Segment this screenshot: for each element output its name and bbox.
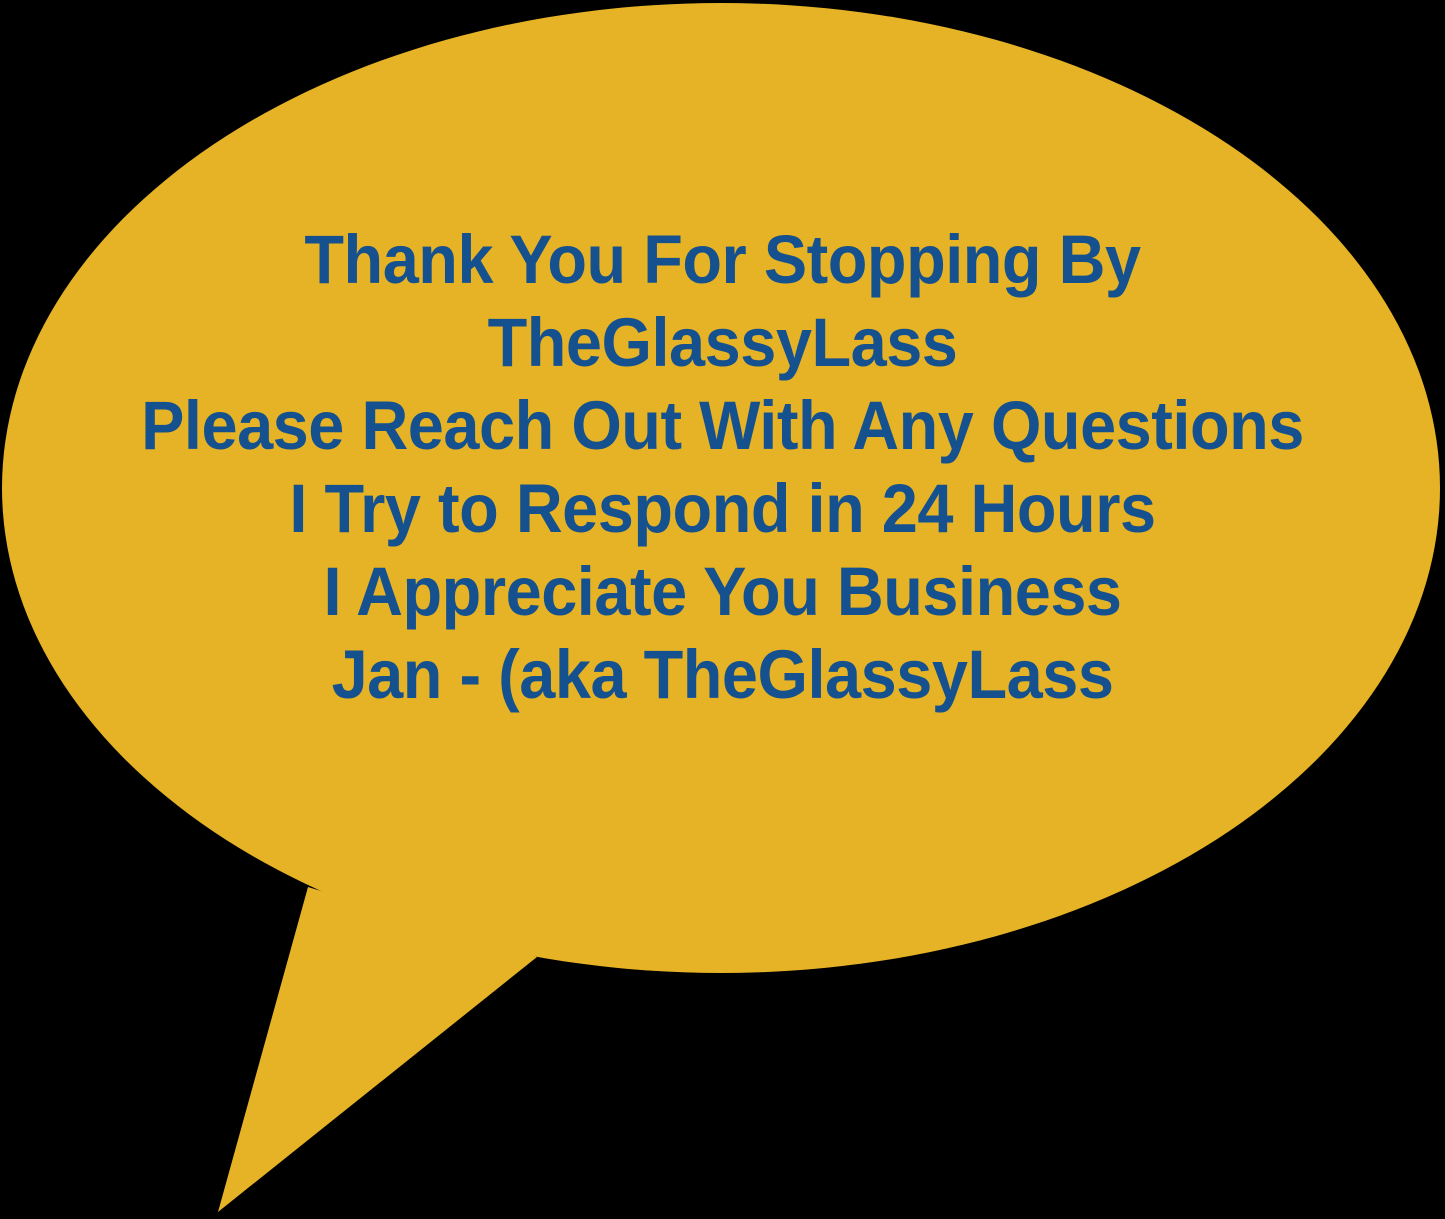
speech-bubble-body <box>2 3 1440 973</box>
speech-bubble-shape <box>0 0 1445 1219</box>
graphic-canvas: Thank You For Stopping By TheGlassyLass … <box>0 0 1445 1219</box>
